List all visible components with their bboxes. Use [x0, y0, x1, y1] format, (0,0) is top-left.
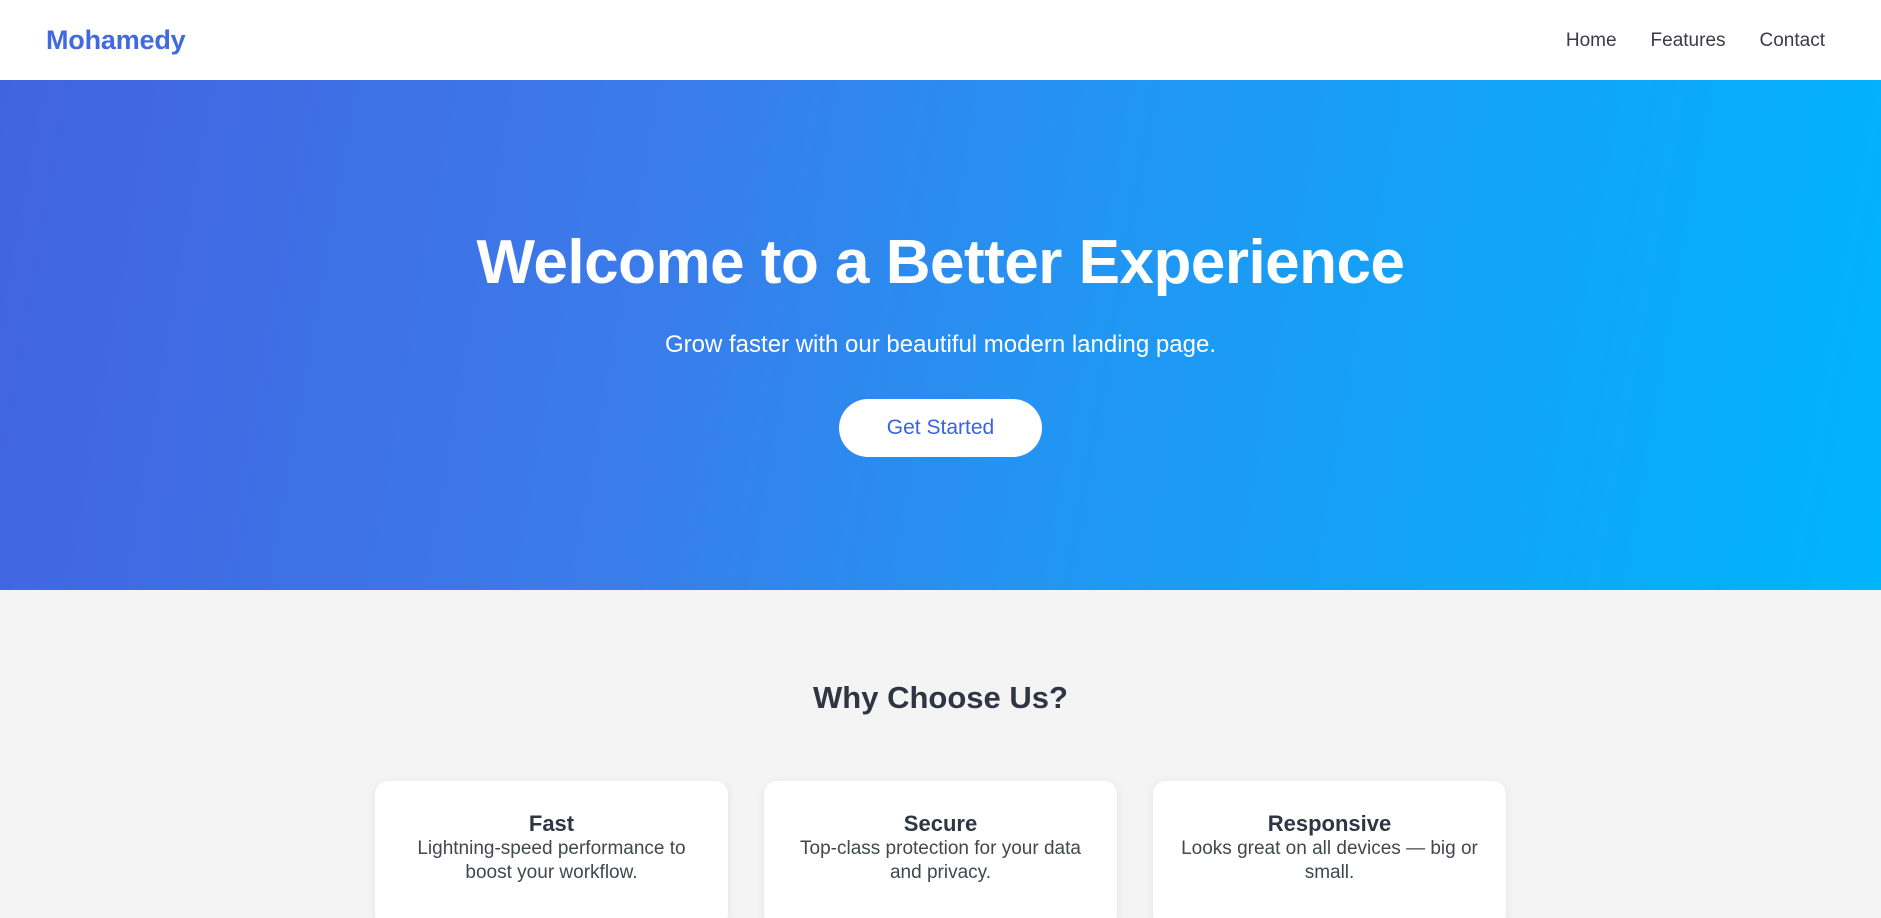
feature-card-title: Responsive: [1179, 811, 1480, 836]
site-header: Mohamedy Home Features Contact: [0, 0, 1881, 80]
hero-subtitle: Grow faster with our beautiful modern la…: [665, 331, 1216, 360]
hero-section: Welcome to a Better Experience Grow fast…: [0, 80, 1881, 590]
nav-link-home[interactable]: Home: [1566, 31, 1617, 50]
nav-link-contact[interactable]: Contact: [1760, 31, 1825, 50]
features-title: Why Choose Us?: [0, 682, 1881, 713]
feature-card-description: Looks great on all devices — big or smal…: [1179, 837, 1480, 885]
brand-logo[interactable]: Mohamedy: [46, 27, 185, 54]
feature-card-fast[interactable]: Fast Lightning-speed performance to boos…: [375, 781, 728, 918]
primary-navigation: Home Features Contact: [1566, 31, 1835, 50]
feature-card-list: Fast Lightning-speed performance to boos…: [0, 781, 1881, 918]
feature-card-title: Secure: [790, 811, 1091, 836]
hero-title: Welcome to a Better Experience: [477, 230, 1405, 295]
feature-card-description: Top-class protection for your data and p…: [790, 837, 1091, 885]
feature-card-responsive[interactable]: Responsive Looks great on all devices — …: [1153, 781, 1506, 918]
feature-card-title: Fast: [401, 811, 702, 836]
feature-card-description: Lightning-speed performance to boost you…: [401, 837, 702, 885]
get-started-button[interactable]: Get Started: [839, 399, 1042, 457]
features-section: Why Choose Us? خمسات Fast Lightning-spee…: [0, 590, 1881, 918]
feature-card-secure[interactable]: Secure Top-class protection for your dat…: [764, 781, 1117, 918]
nav-link-features[interactable]: Features: [1651, 31, 1726, 50]
